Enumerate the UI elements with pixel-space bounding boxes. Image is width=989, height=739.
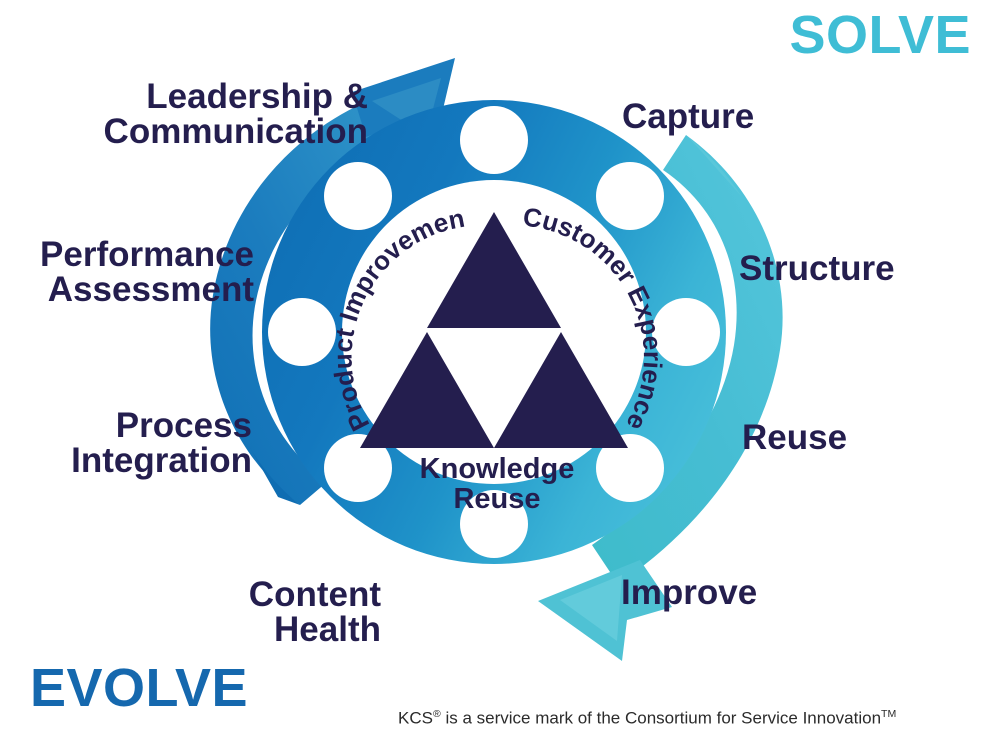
- label-process-integration[interactable]: Process Integration: [71, 408, 252, 478]
- label-line: Improve: [621, 575, 757, 610]
- label-line: Health: [249, 612, 381, 647]
- label-line: Process: [71, 408, 252, 443]
- kcs-methodology-diagram: Product Improvement Customer Experience …: [0, 0, 989, 739]
- label-line: Capture: [622, 99, 754, 134]
- label-reuse[interactable]: Reuse: [742, 420, 847, 455]
- evolve-title: EVOLVE: [30, 661, 248, 715]
- ring-node: [268, 298, 336, 366]
- ring-node: [596, 162, 664, 230]
- registered-mark: ®: [433, 708, 441, 720]
- service-mark-footnote: KCS® is a service mark of the Consortium…: [398, 708, 896, 729]
- label-line: Structure: [739, 251, 895, 286]
- label-line: Assessment: [40, 272, 254, 307]
- footnote-kcs: KCS: [398, 709, 433, 728]
- label-structure[interactable]: Structure: [739, 251, 895, 286]
- label-capture[interactable]: Capture: [622, 99, 754, 134]
- ring-node: [460, 106, 528, 174]
- footnote-body: is a service mark of the Consortium for …: [441, 709, 881, 728]
- label-line: Communication: [104, 114, 368, 149]
- label-line: Content: [249, 577, 381, 612]
- label-leadership-communication[interactable]: Leadership & Communication: [104, 79, 368, 149]
- core-label-knowledge: Knowledge: [420, 453, 575, 485]
- core-label-reuse: Reuse: [453, 483, 540, 515]
- solve-title: SOLVE: [789, 8, 971, 62]
- ring-node: [324, 162, 392, 230]
- trademark-mark: TM: [881, 708, 896, 720]
- label-line: Leadership &: [104, 79, 368, 114]
- label-line: Reuse: [742, 420, 847, 455]
- label-performance-assessment[interactable]: Performance Assessment: [40, 237, 254, 307]
- label-content-health[interactable]: Content Health: [249, 577, 381, 647]
- label-improve[interactable]: Improve: [621, 575, 757, 610]
- label-line: Integration: [71, 443, 252, 478]
- label-line: Performance: [40, 237, 254, 272]
